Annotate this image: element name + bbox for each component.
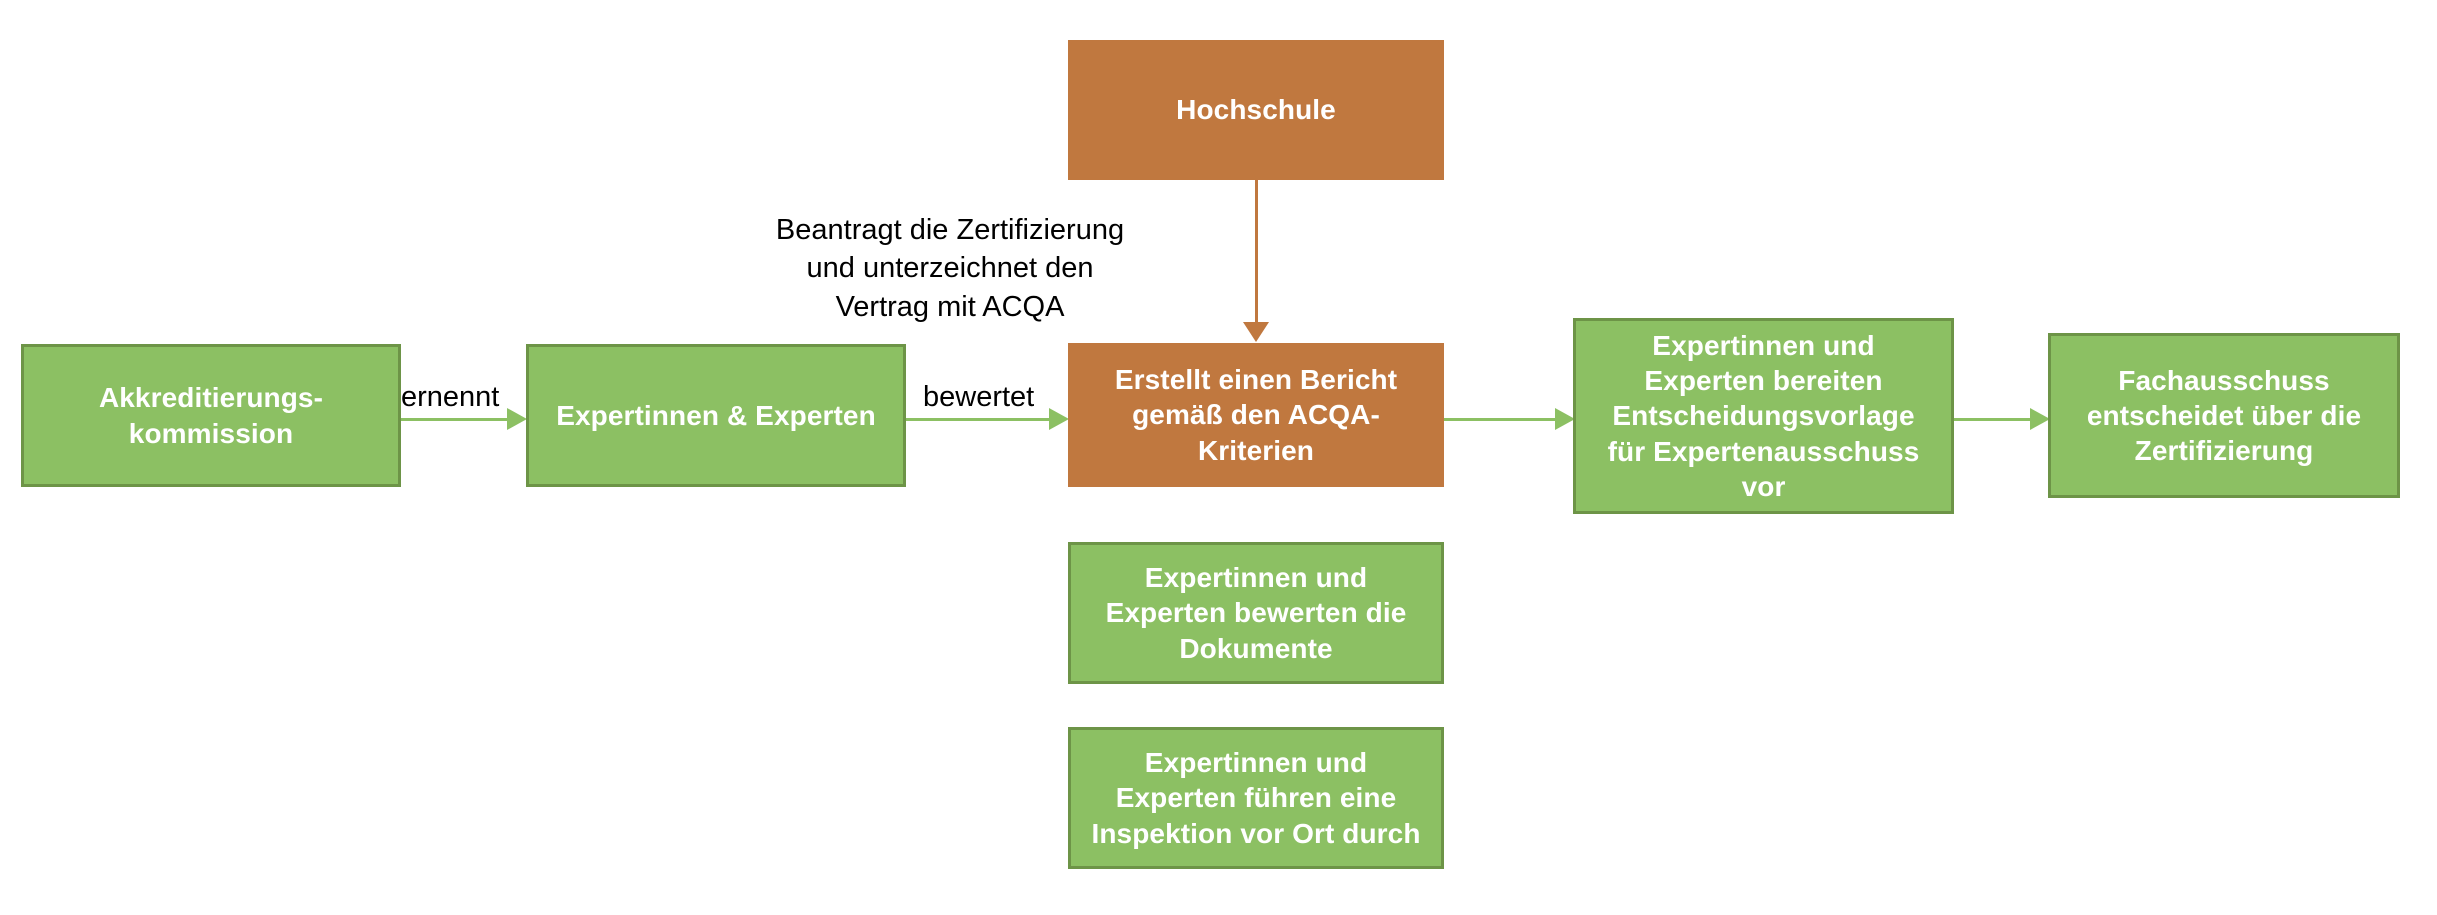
edge-bericht-to-entscheidungsvorlage (1444, 418, 1555, 421)
node-hochschule[interactable]: Hochschule (1068, 40, 1444, 180)
node-bewerten-dokumente-label: Expertinnen und Experten bewerten die Do… (1075, 560, 1437, 666)
edge-label-ernennt: ernennt (401, 381, 499, 414)
edge-entscheidungsvorlage-to-fachausschuss (1954, 418, 2030, 421)
arrowhead-hochschule-to-bericht (1243, 322, 1269, 342)
node-inspektion-vor-ort-label: Expertinnen und Experten führen eine Ins… (1075, 745, 1437, 851)
node-entscheidungsvorlage-label: Expertinnen und Experten bereiten Entsch… (1580, 328, 1947, 504)
node-hochschule-label: Hochschule (1072, 92, 1440, 127)
edge-hochschule-to-bericht (1255, 180, 1258, 323)
arrowhead-kommission-to-experten (507, 408, 527, 430)
node-fachausschuss-label: Fachausschuss entscheidet über die Zerti… (2055, 363, 2393, 469)
node-expertinnen-experten[interactable]: Expertinnen & Experten (526, 344, 906, 487)
node-bewerten-dokumente[interactable]: Expertinnen und Experten bewerten die Do… (1068, 542, 1444, 684)
arrowhead-bericht-to-entscheidungsvorlage (1555, 408, 1575, 430)
note-hochschule-beantragt: Beantragt die Zertifizierung und unterze… (760, 211, 1140, 326)
arrowhead-entscheidungsvorlage-to-fachausschuss (2030, 408, 2050, 430)
node-expertinnen-experten-label: Expertinnen & Experten (533, 398, 899, 433)
arrowhead-experten-to-bericht (1049, 408, 1069, 430)
node-inspektion-vor-ort[interactable]: Expertinnen und Experten führen eine Ins… (1068, 727, 1444, 869)
node-bericht-acqa-kriterien[interactable]: Erstellt einen Bericht gemäß den ACQA- K… (1068, 343, 1444, 487)
flowchart-canvas: ernennt bewertet Beantragt die Zertifizi… (0, 0, 2437, 915)
edge-experten-to-bericht (906, 418, 1049, 421)
edge-label-bewertet: bewertet (923, 381, 1034, 414)
node-entscheidungsvorlage[interactable]: Expertinnen und Experten bereiten Entsch… (1573, 318, 1954, 514)
node-akkreditierungskommission-label: Akkreditierungs- kommission (28, 380, 394, 451)
edge-kommission-to-experten (401, 418, 507, 421)
node-akkreditierungskommission[interactable]: Akkreditierungs- kommission (21, 344, 401, 487)
node-bericht-acqa-kriterien-label: Erstellt einen Bericht gemäß den ACQA- K… (1072, 362, 1440, 468)
node-fachausschuss[interactable]: Fachausschuss entscheidet über die Zerti… (2048, 333, 2400, 498)
